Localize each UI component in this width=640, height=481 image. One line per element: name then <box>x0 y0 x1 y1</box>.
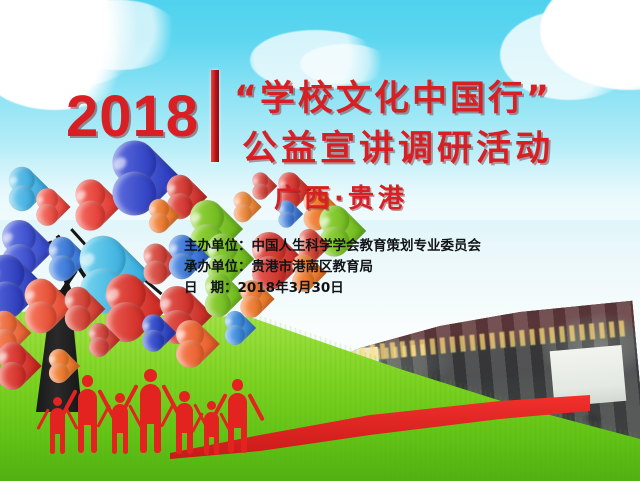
person-body <box>78 389 97 426</box>
title-line-1: “学校文化中国行” <box>234 70 552 121</box>
info-block: 主办单位：中国人生科学学会教育策划专业委员会 承办单位：贵港市港南区教育局 日期… <box>184 236 481 299</box>
person-leg <box>204 435 209 454</box>
year-label: 2018 <box>66 88 199 146</box>
person-body <box>176 403 193 432</box>
person-body <box>140 384 161 424</box>
host-value: 贵港市港南区教育局 <box>252 259 374 275</box>
date-value: 2018年3月30日 <box>238 280 344 296</box>
person-head <box>144 369 157 382</box>
organizer-label: 主办单位： <box>184 236 252 257</box>
person-leg <box>214 435 219 454</box>
person-leg <box>140 422 147 453</box>
person-head <box>232 379 244 391</box>
person-head <box>53 397 62 406</box>
person-silhouette <box>228 379 247 455</box>
person-leg <box>60 433 65 454</box>
date-label-2: 期： <box>211 280 238 296</box>
person-leg <box>228 426 234 453</box>
person-silhouette <box>176 391 193 455</box>
person-leg <box>241 426 247 453</box>
title-line-2: 公益宣讲调研活动 <box>242 120 554 171</box>
person-silhouette <box>78 375 97 455</box>
person-leg <box>176 431 182 454</box>
location-subtitle: 广西·贵港 <box>274 178 408 215</box>
date-label: 日 <box>184 280 211 296</box>
poster-root: 2018 “学校文化中国行” 公益宣讲调研活动 广西·贵港 主办单位：中国人生科… <box>0 0 640 481</box>
person-body <box>228 393 247 428</box>
person-leg <box>78 424 84 453</box>
person-leg <box>112 432 117 454</box>
host-line: 承办单位：贵港市港南区教育局 <box>184 257 481 278</box>
person-head <box>179 391 190 402</box>
person-leg <box>50 433 55 454</box>
person-leg <box>154 422 161 453</box>
person-silhouette <box>50 397 65 455</box>
host-label: 承办单位： <box>184 257 252 278</box>
vertical-divider <box>211 70 219 162</box>
person-leg <box>187 431 193 454</box>
person-silhouette <box>140 369 161 455</box>
organizer-line: 主办单位：中国人生科学学会教育策划专业委员会 <box>184 236 481 257</box>
date-line: 日期：2018年3月30日 <box>184 278 481 299</box>
person-leg <box>91 424 97 453</box>
person-leg <box>123 432 128 454</box>
cloud-icon <box>60 0 180 70</box>
organizer-value: 中国人生科学学会教育策划专业委员会 <box>252 238 482 254</box>
person-head <box>82 375 94 387</box>
person-head <box>115 393 125 403</box>
